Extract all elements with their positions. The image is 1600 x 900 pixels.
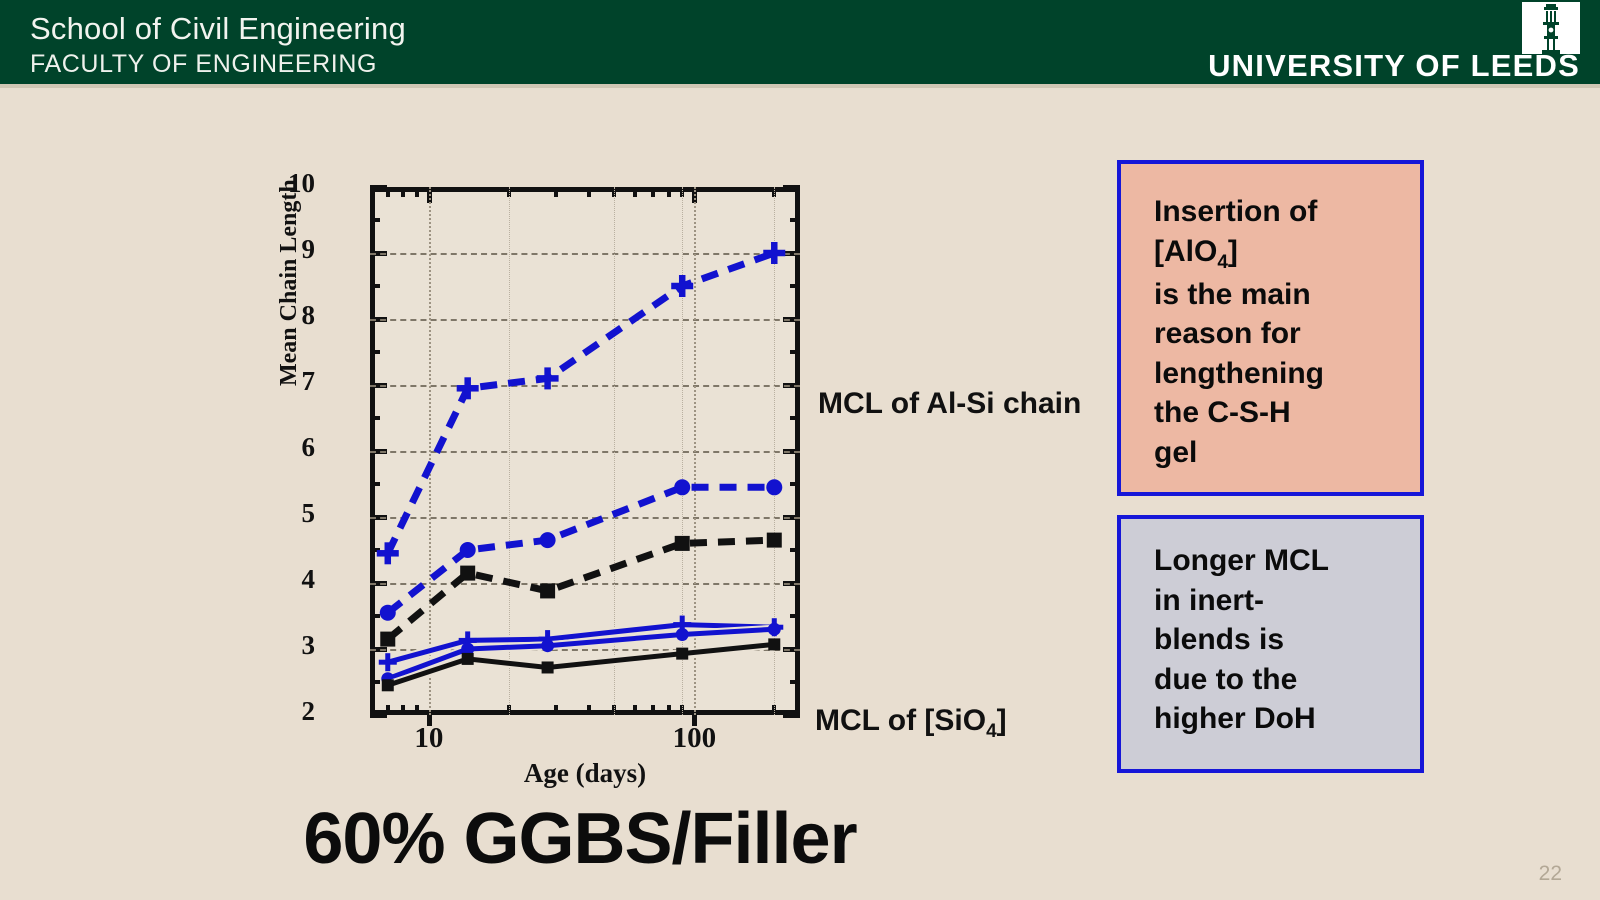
callout-line: Insertion of <box>1154 192 1420 232</box>
data-point <box>540 583 555 598</box>
callout-line: reason for <box>1154 314 1420 354</box>
data-point <box>768 623 781 636</box>
series-0 <box>377 242 786 564</box>
data-point <box>380 605 396 621</box>
data-point <box>679 275 686 297</box>
data-point <box>542 661 554 673</box>
annotation-al-si-chain: MCL of Al-Si chain <box>818 386 1108 423</box>
slide-title: 60% GGBS/Filler <box>0 798 1160 880</box>
data-point <box>676 648 688 660</box>
data-point <box>462 653 474 665</box>
page-number: 22 <box>1539 862 1562 886</box>
callout-insertion-box: Insertion of [AlO4] is the main reason f… <box>1117 160 1424 496</box>
faculty-title: FACULTY OF ENGINEERING <box>30 50 377 79</box>
chart: Mean Chain Length Age (days) 23456789101… <box>0 86 1120 826</box>
callout-line: due to the <box>1154 660 1420 700</box>
callout-longer-mcl-text: Longer MCL in inert- blends is due to th… <box>1121 519 1420 739</box>
data-point <box>460 566 475 581</box>
data-point <box>385 653 390 671</box>
data-point <box>385 542 392 564</box>
callout-line: is the main <box>1154 275 1420 315</box>
callout-insertion-text: Insertion of [AlO4] is the main reason f… <box>1121 164 1420 473</box>
leeds-tower-icon <box>1522 2 1580 54</box>
data-point <box>541 639 554 652</box>
data-point <box>380 632 395 647</box>
data-point <box>544 367 551 389</box>
callout-line: gel <box>1154 433 1420 473</box>
data-point <box>771 242 778 264</box>
callout-line: Longer MCL <box>1154 541 1420 581</box>
data-point <box>540 532 556 548</box>
subscript-4: 4 <box>1217 252 1228 273</box>
callout-line: blends is <box>1154 620 1420 660</box>
callout-line: in inert- <box>1154 581 1420 621</box>
callout-line: higher DoH <box>1154 699 1420 739</box>
annotation-sio4: MCL of [SiO4] <box>815 703 1115 743</box>
data-point <box>674 479 690 495</box>
callout-line: the C-S-H <box>1154 393 1420 433</box>
callout-line: [AlO4] <box>1154 232 1420 275</box>
data-point <box>767 533 782 548</box>
data-point <box>676 628 689 641</box>
callout-longer-mcl-box: Longer MCL in inert- blends is due to th… <box>1117 515 1424 773</box>
data-point <box>464 377 471 399</box>
data-point <box>675 536 690 551</box>
data-point <box>382 679 394 691</box>
data-point <box>460 542 476 558</box>
callout-line: lengthening <box>1154 354 1420 394</box>
school-title: School of Civil Engineering <box>30 11 406 47</box>
data-point <box>766 479 782 495</box>
data-point <box>768 638 780 650</box>
header-bar: School of Civil Engineering FACULTY OF E… <box>0 0 1600 84</box>
